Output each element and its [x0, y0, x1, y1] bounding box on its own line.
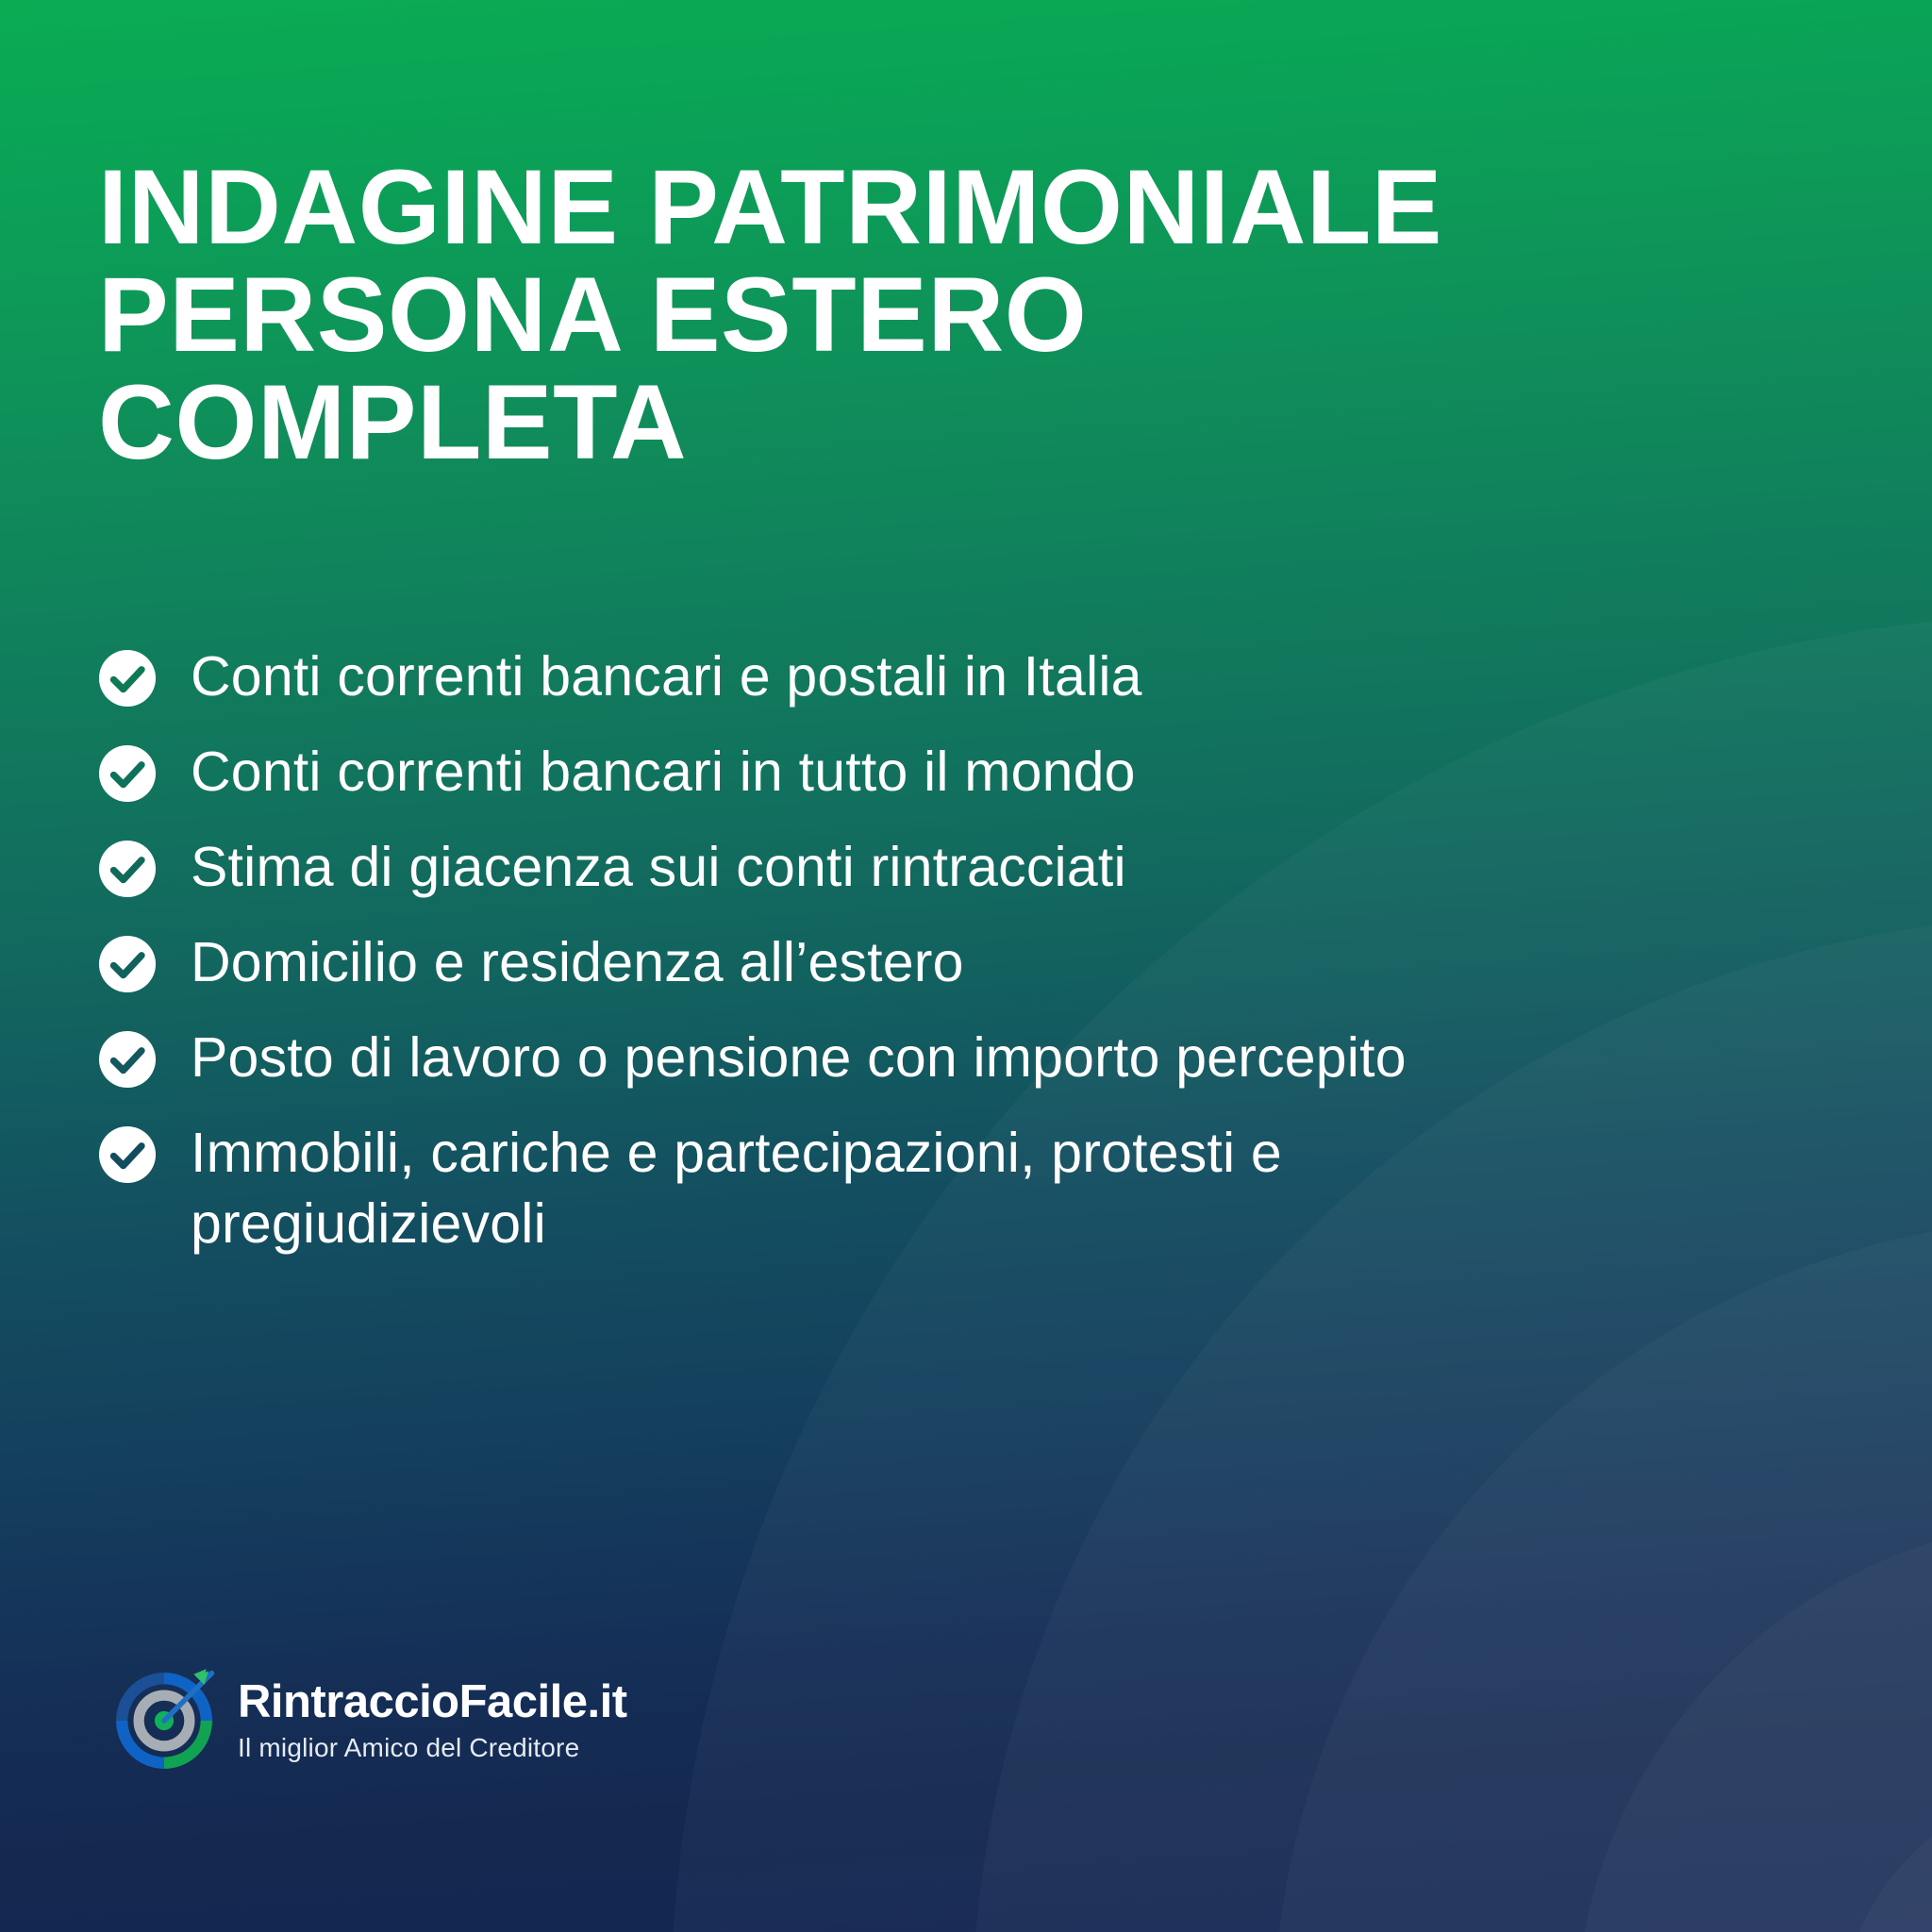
brand-name: RintraccioFacile.it — [238, 1677, 627, 1726]
target-arrow-logo-icon — [111, 1668, 217, 1774]
page-title: INDAGINE PATRIMONIALE PERSONA ESTERO COM… — [98, 154, 1494, 476]
list-item: Domicilio e residenza all’estero — [98, 927, 1438, 998]
list-item-label: Immobili, cariche e partecipazioni, prot… — [191, 1118, 1438, 1259]
list-item-label: Stima di giacenza sui conti rintracciati — [191, 832, 1126, 903]
brand-lockup[interactable]: RintraccioFacile.it Il miglior Amico del… — [111, 1668, 627, 1774]
list-item: Conti correnti bancari e postali in Ital… — [98, 641, 1438, 712]
poster-canvas: INDAGINE PATRIMONIALE PERSONA ESTERO COM… — [0, 0, 1932, 1932]
check-circle-icon — [98, 935, 157, 993]
check-circle-icon — [98, 1125, 157, 1184]
brand-text: RintraccioFacile.it Il miglior Amico del… — [238, 1677, 627, 1764]
check-circle-icon — [98, 1030, 157, 1089]
list-item: Stima di giacenza sui conti rintracciati — [98, 832, 1438, 903]
check-circle-icon — [98, 840, 157, 898]
list-item-label: Domicilio e residenza all’estero — [191, 927, 964, 998]
list-item: Immobili, cariche e partecipazioni, prot… — [98, 1118, 1438, 1259]
list-item: Conti correnti bancari in tutto il mondo — [98, 737, 1438, 808]
list-item-label: Posto di lavoro o pensione con importo p… — [191, 1023, 1407, 1093]
check-circle-icon — [98, 744, 157, 803]
feature-list: Conti correnti bancari e postali in Ital… — [98, 641, 1438, 1284]
list-item-label: Conti correnti bancari e postali in Ital… — [191, 641, 1142, 712]
list-item: Posto di lavoro o pensione con importo p… — [98, 1023, 1438, 1093]
brand-tagline: Il miglior Amico del Creditore — [238, 1732, 627, 1764]
list-item-label: Conti correnti bancari in tutto il mondo — [191, 737, 1136, 808]
check-circle-icon — [98, 649, 157, 708]
